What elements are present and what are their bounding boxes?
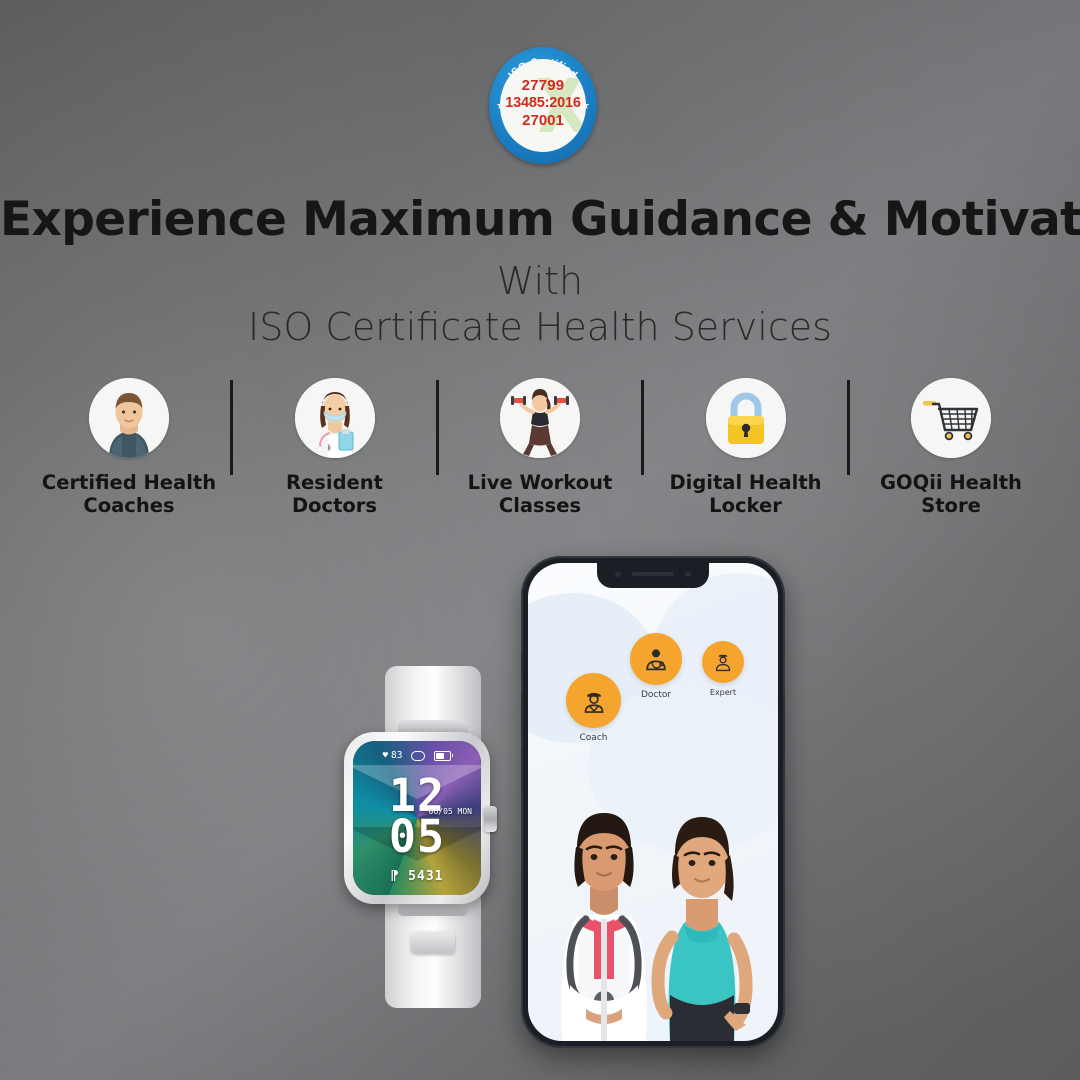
doctor-avatar-icon — [295, 378, 375, 458]
feature-label: Certified Health Coaches — [42, 471, 216, 518]
badge-number-1: 27799 — [500, 77, 586, 95]
feature-divider — [230, 380, 233, 475]
phone-screen[interactable]: Coach Doctor — [528, 563, 778, 1041]
app-button-doctor[interactable]: Doctor — [630, 633, 682, 700]
coach-avatar-icon — [89, 378, 169, 458]
heart-icon: ♥ — [383, 751, 388, 761]
doctor-person-icon — [630, 633, 682, 685]
footsteps-icon: ⁋ — [391, 869, 400, 884]
badge-numbers: 27799 13485:2016 27001 — [500, 77, 586, 129]
feature-label: Live Workout Classes — [468, 471, 613, 518]
feature-resident-doctors[interactable]: Resident Doctors — [246, 378, 424, 518]
smartwatch-device: ♥ 83 12 05 06/05 MON ⁋ 5431 — [318, 660, 548, 1010]
feature-label: Digital Health Locker — [669, 471, 821, 518]
feature-divider — [847, 380, 850, 475]
feature-live-workout-classes[interactable]: Live Workout Classes — [451, 378, 629, 518]
step-count-value: 5431 — [408, 869, 443, 884]
phone-volume-up-button[interactable] — [521, 692, 523, 736]
feature-label: GOQii Health Store — [880, 471, 1022, 518]
watch-status-bar: ♥ 83 — [353, 750, 481, 761]
watch-screen[interactable]: ♥ 83 12 05 06/05 MON ⁋ 5431 — [353, 741, 481, 895]
padlock-icon — [706, 378, 786, 458]
sync-icon — [411, 751, 425, 761]
doctor-and-athlete-photo — [528, 751, 778, 1041]
workout-woman-icon — [500, 378, 580, 458]
watch-time: 12 05 — [353, 775, 481, 858]
feature-digital-health-locker[interactable]: Digital Health Locker — [657, 378, 835, 518]
watch-crown-button[interactable] — [484, 806, 497, 832]
athlete-figure — [640, 759, 765, 1041]
badge-number-3: 27001 — [500, 112, 586, 130]
poster-canvas: ISO Certified ISO Certified ★ ★ 27799 13… — [0, 0, 1080, 1080]
phone-power-button[interactable] — [783, 696, 785, 758]
watch-strap-buckle — [411, 932, 455, 954]
feature-row: Certified Health Coaches — [40, 378, 1040, 538]
app-button-label: Doctor — [641, 690, 671, 700]
expert-person-icon — [702, 641, 744, 683]
feature-certified-health-coaches[interactable]: Certified Health Coaches — [40, 378, 218, 518]
front-camera-icon — [685, 571, 691, 577]
proximity-sensor-icon — [615, 571, 621, 577]
iso-certification-badge: ISO Certified ISO Certified ★ ★ 27799 13… — [489, 47, 597, 164]
badge-number-2: 13485:2016 — [500, 95, 586, 112]
watch-heart-rate: ♥ 83 — [383, 750, 403, 761]
app-button-label: Coach — [580, 733, 608, 743]
badge-inner-disc: 27799 13485:2016 27001 — [500, 59, 586, 152]
battery-icon — [434, 751, 451, 761]
app-button-label: Expert — [710, 688, 736, 697]
headline-connector: With — [0, 259, 1080, 303]
heart-rate-value: 83 — [391, 750, 402, 761]
shopping-cart-icon — [911, 378, 991, 458]
watch-case: ♥ 83 12 05 06/05 MON ⁋ 5431 — [344, 732, 490, 904]
feature-goqii-health-store[interactable]: GOQii Health Store — [862, 378, 1040, 518]
watch-step-count: ⁋ 5431 — [353, 869, 481, 884]
feature-divider — [436, 380, 439, 475]
coach-person-icon — [566, 673, 621, 728]
phone-volume-down-button[interactable] — [521, 748, 523, 792]
headline-primary: Experience Maximum Guidance & Motivation — [0, 192, 1080, 247]
earpiece-speaker — [632, 572, 674, 576]
watch-time-minutes: 05 — [353, 816, 481, 857]
feature-label: Resident Doctors — [286, 471, 383, 518]
smartphone-device: Coach Doctor — [521, 556, 785, 1048]
phone-mute-switch[interactable] — [521, 652, 523, 678]
feature-divider — [641, 380, 644, 475]
headline-secondary: ISO Certificate Health Services — [0, 305, 1080, 349]
phone-notch — [597, 563, 709, 588]
app-button-expert[interactable]: Expert — [702, 641, 744, 697]
app-button-coach[interactable]: Coach — [566, 673, 621, 743]
watch-date: 06/05 MON — [429, 807, 472, 816]
